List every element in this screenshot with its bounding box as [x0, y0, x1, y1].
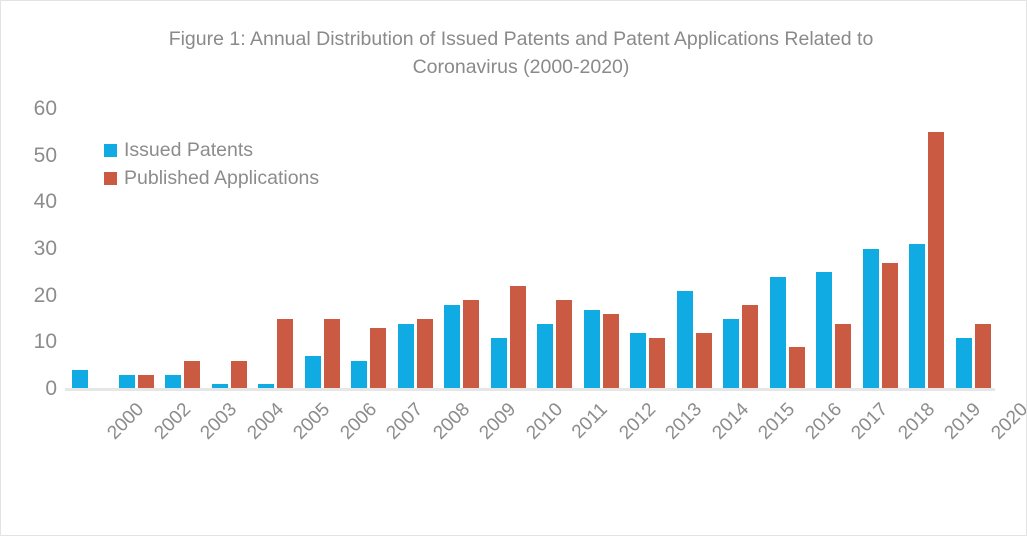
bar-published-applications[interactable] — [975, 324, 991, 389]
bar-issued-patents[interactable] — [398, 324, 414, 389]
bar-published-applications[interactable] — [649, 338, 665, 389]
bar-published-applications[interactable] — [835, 324, 851, 389]
bar-issued-patents[interactable] — [305, 356, 321, 389]
x-axis-tick-label: 2019 — [940, 399, 985, 444]
x-axis-tick-label: 2008 — [429, 399, 474, 444]
bar-group — [441, 109, 488, 389]
bar-issued-patents[interactable] — [909, 244, 925, 389]
x-axis-tick-label: 2002 — [150, 399, 195, 444]
x-axis-tick-label: 2014 — [708, 399, 753, 444]
y-axis-tick-label: 0 — [1, 377, 57, 401]
bar-published-applications[interactable] — [277, 319, 293, 389]
bar-issued-patents[interactable] — [956, 338, 972, 389]
bar-issued-patents[interactable] — [723, 319, 739, 389]
bar-group — [581, 109, 628, 389]
y-axis-tick-label: 50 — [1, 144, 57, 168]
bar-group — [627, 109, 674, 389]
x-axis-tick-label: 2009 — [475, 399, 520, 444]
x-axis-tick-label: 2000 — [103, 399, 148, 444]
bar-published-applications[interactable] — [231, 361, 247, 389]
x-axis-tick-label: 2003 — [196, 399, 241, 444]
x-axis-tick-label: 2006 — [336, 399, 381, 444]
x-axis-tick-label: 2020 — [987, 399, 1027, 444]
bar-group — [906, 109, 953, 389]
bar-published-applications[interactable] — [603, 314, 619, 389]
x-axis-tick-label: 2017 — [847, 399, 892, 444]
bar-issued-patents[interactable] — [72, 370, 88, 389]
bar-published-applications[interactable] — [324, 319, 340, 389]
bar-published-applications[interactable] — [417, 319, 433, 389]
bar-group — [348, 109, 395, 389]
bar-issued-patents[interactable] — [677, 291, 693, 389]
x-axis-tick-label: 2018 — [894, 399, 939, 444]
bar-issued-patents[interactable] — [584, 310, 600, 389]
x-axis-tick-label: 2013 — [661, 399, 706, 444]
x-axis-tick-label: 2012 — [615, 399, 660, 444]
bar-group — [674, 109, 721, 389]
x-axis: 2000200220032004200520062007200820092010… — [65, 393, 995, 463]
chart-title: Figure 1: Annual Distribution of Issued … — [121, 25, 921, 81]
bar-issued-patents[interactable] — [491, 338, 507, 389]
bar-group — [860, 109, 907, 389]
bar-issued-patents[interactable] — [119, 375, 135, 389]
x-axis-tick-label: 2007 — [382, 399, 427, 444]
bar-published-applications[interactable] — [510, 286, 526, 389]
bar-published-applications[interactable] — [556, 300, 572, 389]
bar-issued-patents[interactable] — [630, 333, 646, 389]
y-axis-tick-label: 10 — [1, 330, 57, 354]
bar-group — [720, 109, 767, 389]
bar-published-applications[interactable] — [138, 375, 154, 389]
bar-group — [488, 109, 535, 389]
bar-group — [534, 109, 581, 389]
x-axis-baseline — [65, 388, 995, 391]
legend-item[interactable]: Issued Patents — [104, 136, 319, 164]
bar-issued-patents[interactable] — [863, 249, 879, 389]
bar-published-applications[interactable] — [463, 300, 479, 389]
legend-label: Issued Patents — [124, 139, 253, 162]
legend-swatch-icon — [104, 172, 117, 185]
bar-issued-patents[interactable] — [444, 305, 460, 389]
x-axis-tick-label: 2004 — [243, 399, 288, 444]
figure-container: Figure 1: Annual Distribution of Issued … — [0, 0, 1027, 536]
legend-label: Published Applications — [124, 167, 319, 190]
x-axis-tick-label: 2016 — [801, 399, 846, 444]
bar-published-applications[interactable] — [370, 328, 386, 389]
x-axis-tick-label: 2015 — [754, 399, 799, 444]
y-axis-tick-label: 20 — [1, 284, 57, 308]
bar-published-applications[interactable] — [882, 263, 898, 389]
bar-issued-patents[interactable] — [770, 277, 786, 389]
bar-group — [395, 109, 442, 389]
bar-issued-patents[interactable] — [816, 272, 832, 389]
bar-issued-patents[interactable] — [165, 375, 181, 389]
y-axis-tick-label: 60 — [1, 97, 57, 121]
bar-issued-patents[interactable] — [351, 361, 367, 389]
bar-published-applications[interactable] — [928, 132, 944, 389]
y-axis-tick-label: 30 — [1, 237, 57, 261]
bar-published-applications[interactable] — [789, 347, 805, 389]
bar-issued-patents[interactable] — [537, 324, 553, 389]
bar-group — [767, 109, 814, 389]
chart-legend: Issued PatentsPublished Applications — [104, 136, 319, 192]
legend-swatch-icon — [104, 144, 117, 157]
bar-group — [953, 109, 1000, 389]
x-axis-tick-label: 2010 — [522, 399, 567, 444]
bar-published-applications[interactable] — [184, 361, 200, 389]
y-axis-tick-label: 40 — [1, 190, 57, 214]
bar-published-applications[interactable] — [742, 305, 758, 389]
x-axis-tick-label: 2011 — [568, 399, 612, 443]
y-axis: 0102030405060 — [1, 109, 57, 389]
bar-group — [813, 109, 860, 389]
x-axis-tick-label: 2005 — [289, 399, 334, 444]
legend-item[interactable]: Published Applications — [104, 164, 319, 192]
bar-published-applications[interactable] — [696, 333, 712, 389]
